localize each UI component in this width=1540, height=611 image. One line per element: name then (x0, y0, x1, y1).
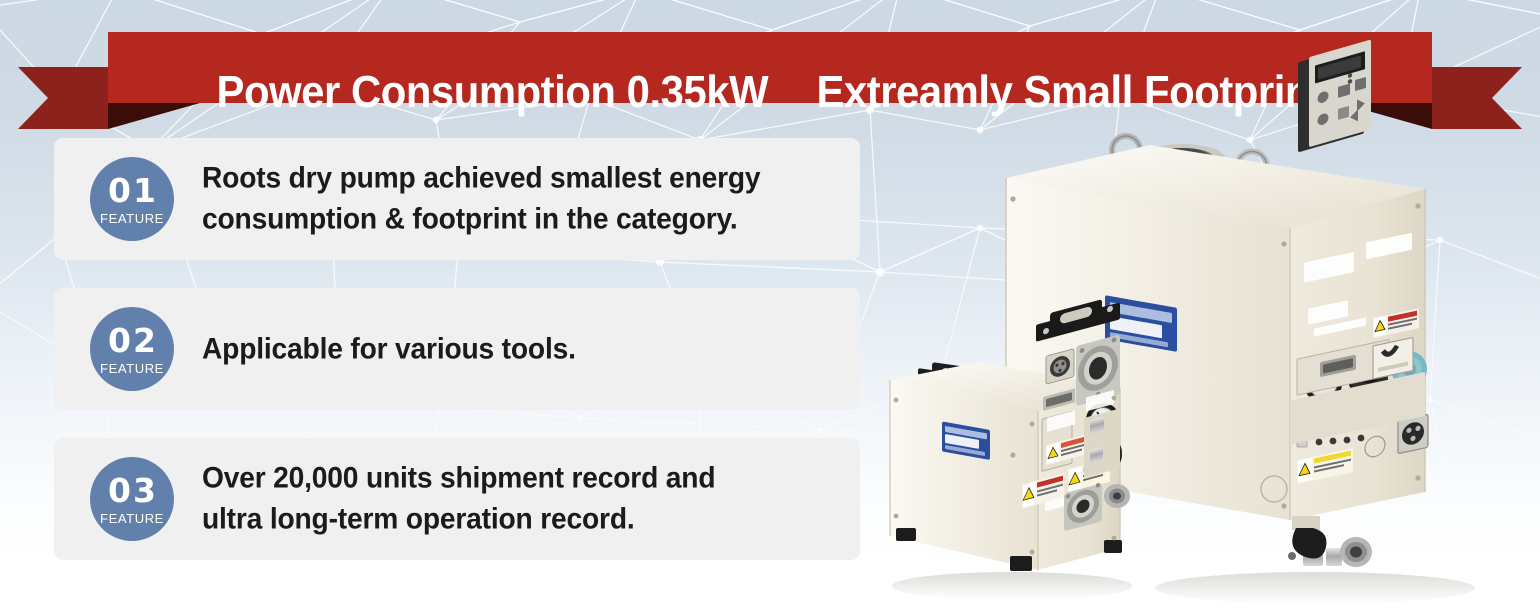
product-photo-group (860, 0, 1540, 611)
feature-text-01: Roots dry pump achieved smallest energy … (202, 158, 760, 241)
feature-badge-03: 03 FEATURE (90, 457, 174, 541)
small-pump-shadow (892, 572, 1132, 600)
feature-card-03[interactable]: 03 FEATURE Over 20,000 units shipment re… (54, 438, 860, 560)
headline-left-text: Power Consumption 0.35kW (217, 66, 769, 118)
feature-card-02[interactable]: 02 FEATURE Applicable for various tools. (54, 288, 860, 410)
feature-badge-label: FEATURE (100, 212, 164, 225)
pump-illustrations (860, 0, 1540, 611)
large-pump-caster-right (1292, 516, 1326, 559)
large-pump-shadow (1155, 572, 1475, 604)
feature-badge-02: 02 FEATURE (90, 307, 174, 391)
small-pump-side (890, 380, 1038, 570)
feature-badge-label: FEATURE (100, 362, 164, 375)
feature-badge-01: 01 FEATURE (90, 157, 174, 241)
feature-number: 01 (108, 174, 158, 207)
feature-card-01[interactable]: 01 FEATURE Roots dry pump achieved small… (54, 138, 860, 260)
feature-badge-label: FEATURE (100, 512, 164, 525)
feature-number: 03 (108, 474, 158, 507)
feature-text-03: Over 20,000 units shipment record and ul… (202, 458, 715, 541)
feature-number: 02 (108, 324, 158, 357)
feature-text-02: Applicable for various tools. (202, 328, 576, 369)
large-pump-control-panel (1298, 39, 1371, 152)
